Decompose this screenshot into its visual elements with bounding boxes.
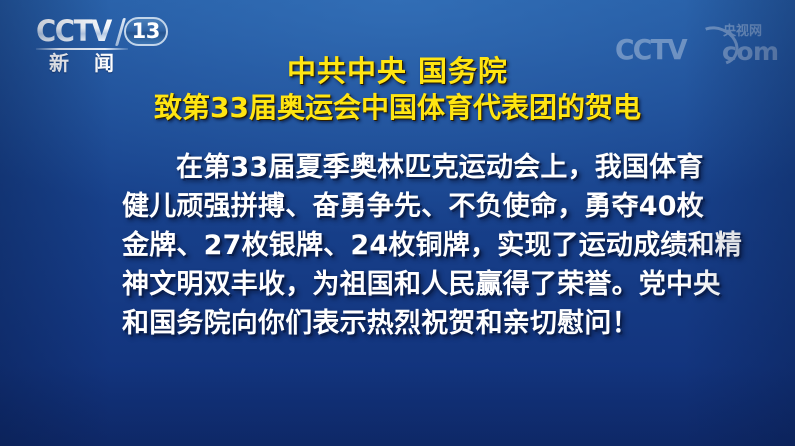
body-line: 神文明双丰收，为祖国和人民赢得了荣誉。党中央	[122, 265, 678, 304]
cctv-wordmark: CCTV	[36, 17, 113, 46]
body-line: 和国务院向你们表示热烈祝贺和亲切慰问！	[122, 304, 678, 343]
body-text-block: 在第33届夏季奥林匹克运动会上，我国体育 健儿顽强拼搏、奋勇争先、不负使命，勇夺…	[122, 148, 678, 343]
body-line: 金牌、27枚银牌、24枚铜牌，实现了运动成绩和精	[122, 226, 678, 265]
channel-number-label: 13	[132, 21, 160, 42]
headline-line-2: 致第33届奥运会中国体育代表团的贺电	[0, 91, 795, 125]
headline-line-1: 中共中央 国务院	[0, 54, 795, 88]
broadcast-graphic-screen: CCTV 13 新 闻 CCTV 央视网 com 中共中央 国务院 致第33届奥…	[0, 0, 795, 446]
body-line: 健儿顽强拼搏、奋勇争先、不负使命，勇夺40枚	[122, 187, 678, 226]
body-line: 在第33届夏季奥林匹克运动会上，我国体育	[122, 148, 678, 187]
cctv13-logo-row: CCTV 13	[36, 16, 168, 47]
channel-number-badge: 13	[124, 17, 168, 46]
logo-underline-divider	[36, 48, 128, 50]
logo-slash-icon	[116, 17, 127, 47]
headline-block: 中共中央 国务院 致第33届奥运会中国体育代表团的贺电	[0, 54, 795, 125]
